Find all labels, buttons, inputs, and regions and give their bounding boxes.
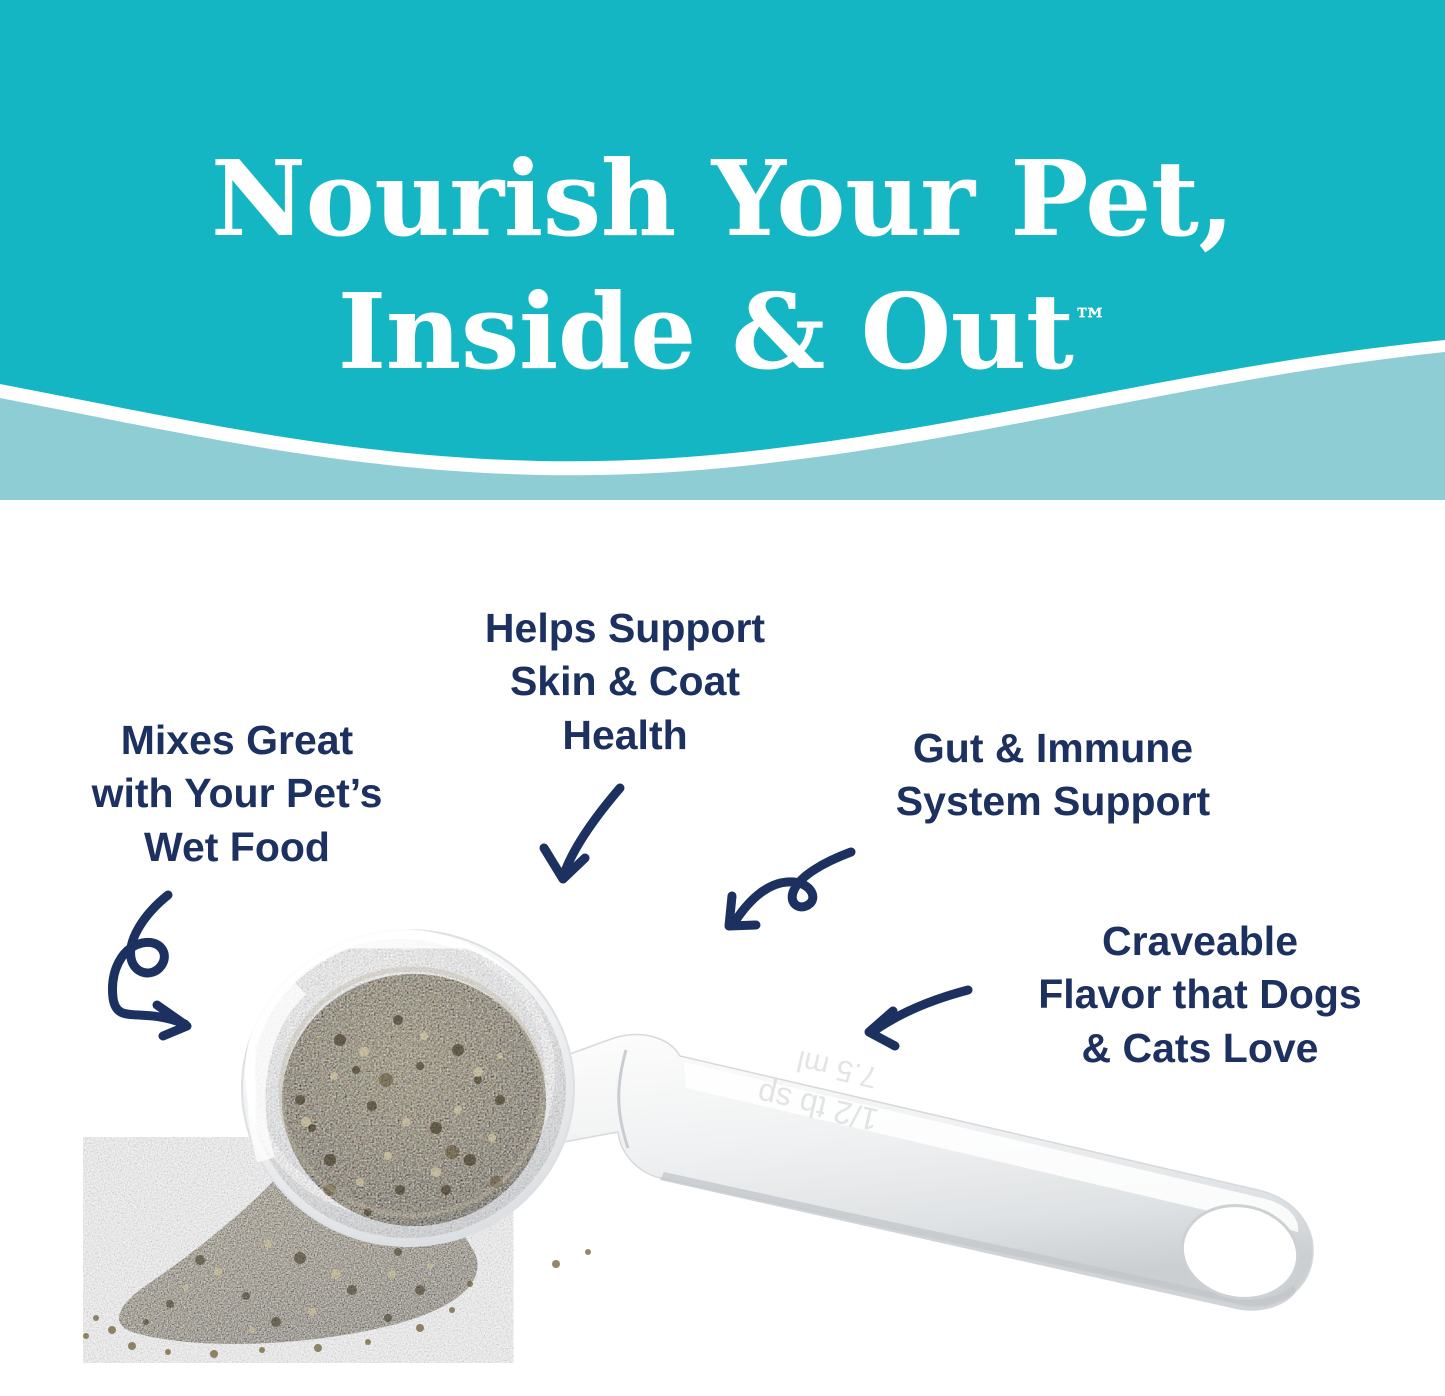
callout-flavor-line-1: Craveable <box>980 915 1420 968</box>
scoop-handle <box>520 1035 1313 1311</box>
callout-gut-line-1: Gut & Immune <box>846 722 1260 775</box>
powder-in-bowl <box>282 974 546 1226</box>
callout-gut-line-2: System Support <box>846 775 1260 828</box>
callout-craveable-flavor: Craveable Flavor that Dogs & Cats Love <box>980 915 1420 1075</box>
callout-mixes-line-1: Mixes Great <box>52 714 422 767</box>
callout-mixes-great: Mixes Great with Your Pet’s Wet Food <box>52 714 422 874</box>
product-infographic-page: Nourish Your Pet, Inside & Out™ <box>0 0 1445 1396</box>
callout-skin-line-3: Health <box>440 709 810 762</box>
page-title-line-1: Nourish Your Pet, <box>0 132 1445 265</box>
powder-mound-shape <box>282 974 546 1226</box>
trademark-symbol: ™ <box>1073 301 1107 341</box>
callout-flavor-line-2: Flavor that Dogs <box>980 968 1420 1021</box>
callout-mixes-line-2: with Your Pet’s <box>52 767 422 820</box>
callout-skin-line-1: Helps Support <box>440 602 810 655</box>
callout-skin-coat: Helps Support Skin & Coat Health <box>440 602 810 762</box>
page-title-line-2-text: Inside & Out <box>338 270 1074 393</box>
page-title-line-2: Inside & Out™ <box>0 265 1445 398</box>
callout-flavor-line-3: & Cats Love <box>980 1022 1420 1075</box>
callout-gut-immune: Gut & Immune System Support <box>846 722 1260 829</box>
scoop-bowl <box>242 930 574 1246</box>
callout-mixes-line-3: Wet Food <box>52 821 422 874</box>
hero-banner: Nourish Your Pet, Inside & Out™ <box>0 0 1445 500</box>
callout-skin-line-2: Skin & Coat <box>440 655 810 708</box>
page-title: Nourish Your Pet, Inside & Out™ <box>0 132 1445 398</box>
